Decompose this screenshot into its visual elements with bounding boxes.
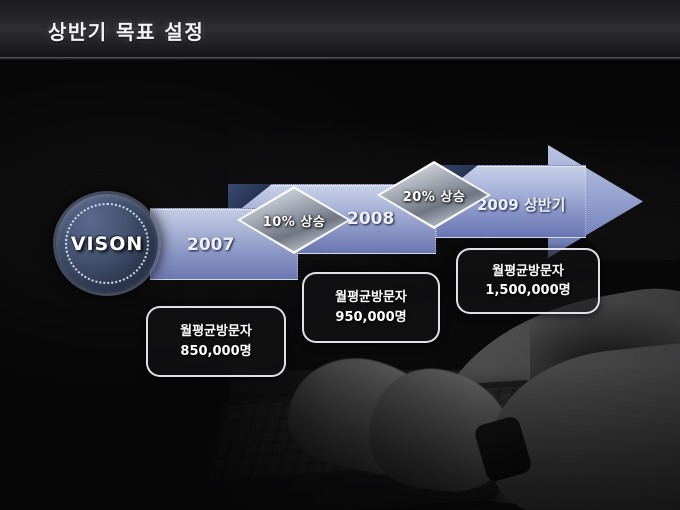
arrow-label-2007: 2007 [187, 235, 234, 255]
callout-box-2008: 월평균방문자 950,000명 [302, 272, 440, 343]
callout-2009-title: 월평균방문자 [492, 262, 564, 282]
callout-2008-title: 월평균방문자 [335, 288, 407, 308]
page-title: 상반기 목표 설정 [48, 16, 204, 45]
callout-box-2009: 월평균방문자 1,500,000명 [456, 248, 600, 314]
header-divider [0, 57, 680, 60]
callout-2007-value: 850,000명 [180, 342, 251, 362]
callout-2009-value: 1,500,000명 [485, 281, 570, 301]
vision-badge: VISON [56, 194, 158, 293]
growth-marker-10-label: 10% 상승 [263, 211, 326, 230]
callout-2007-title: 월평균방문자 [180, 322, 252, 342]
callout-box-2007: 월평균방문자 850,000명 [146, 306, 286, 377]
slide-canvas: 상반기 목표 설정 2009 상반기 2008 2007 10% 상승 20% … [0, 0, 680, 510]
growth-marker-10: 10% 상승 [237, 186, 351, 254]
growth-marker-20: 20% 상승 [377, 161, 491, 229]
callout-2008-value: 950,000명 [335, 308, 406, 328]
growth-marker-20-label: 20% 상승 [403, 186, 466, 205]
vision-badge-label: VISON [71, 233, 144, 255]
